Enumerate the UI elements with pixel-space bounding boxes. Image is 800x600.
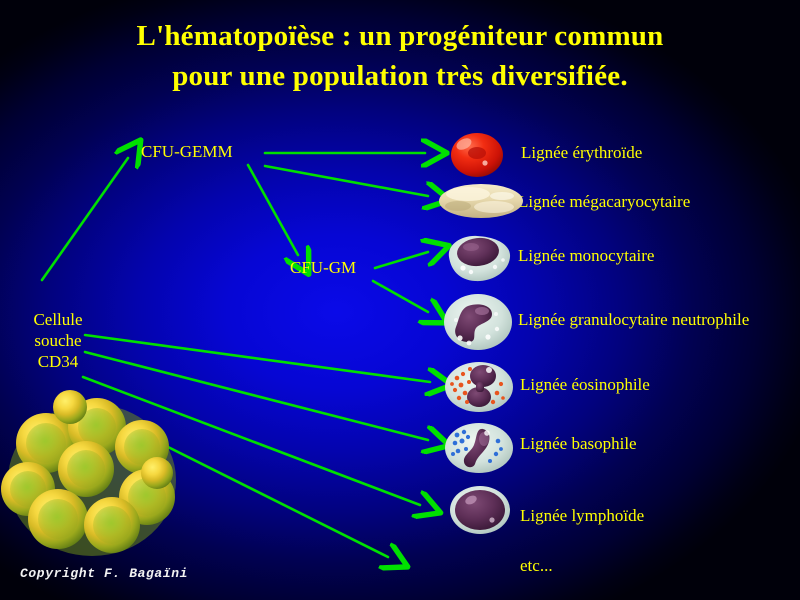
label-lineage-lymphoid: Lignée lymphoïde: [520, 506, 644, 526]
arrow-stem-to-cfugemm: [42, 158, 128, 280]
slide-canvas: L'hématopoïèse : un progéniteur commun p…: [0, 0, 800, 600]
stem-cell-cluster-image: [0, 385, 185, 560]
cell-image-erythroid: [448, 131, 506, 179]
cell-image-lymphoid: [448, 484, 512, 536]
label-lineage-basophil: Lignée basophile: [520, 434, 637, 454]
cell-image-monocytic: [443, 231, 515, 287]
label-stem-cell-line3: CD34: [10, 352, 106, 372]
copyright-notice: Copyright F. Bagaïni: [20, 566, 188, 581]
cell-image-neutrophil: [442, 292, 514, 352]
arrow-cfugemm-to-cfugm: [248, 165, 298, 255]
label-cfu-gm: CFU-GM: [290, 258, 356, 278]
label-stem-cell-line2: souche: [10, 331, 106, 351]
arrow-cfugm-to-neutrophil: [373, 281, 428, 312]
cell-image-eosinophil: [443, 360, 515, 414]
arrow-cfugemm-to-megakaryocytic: [265, 166, 428, 196]
cell-image-megakaryocytic: [438, 180, 524, 222]
arrow-stem-to-eosinophil: [85, 335, 430, 382]
cell-image-basophil: [443, 421, 515, 475]
label-lineage-megakaryocytic: Lignée mégacaryocytaire: [518, 192, 690, 212]
label-lineage-eosinophil: Lignée éosinophile: [520, 375, 650, 395]
label-lineage-erythroid: Lignée érythroïde: [521, 143, 642, 163]
label-cfu-gemm: CFU-GEMM: [141, 142, 233, 162]
label-stem-cell-line1: Cellule: [10, 310, 106, 330]
label-lineage-monocytic: Lignée monocytaire: [518, 246, 654, 266]
label-lineage-neutrophil: Lignée granulocytaire neutrophile: [518, 310, 749, 330]
arrow-cfugm-to-monocytic: [375, 252, 428, 268]
label-lineage-etc: etc...: [520, 556, 553, 576]
